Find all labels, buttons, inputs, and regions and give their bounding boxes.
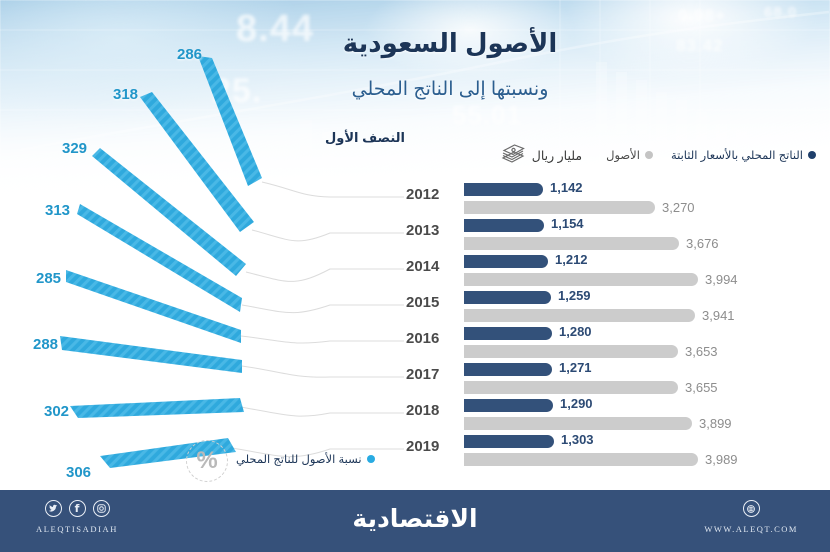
fan-wedge[interactable] [70, 398, 244, 418]
bar-row-year: 2016 [406, 330, 458, 347]
bar-value-gdp: 1,280 [559, 324, 592, 339]
bar-value-assets: 3,994 [705, 272, 738, 287]
fan-wedge[interactable] [140, 92, 254, 232]
bar-value-assets: 3,941 [702, 308, 735, 323]
legend-dot-icon [367, 455, 375, 463]
bar-assets[interactable] [464, 417, 692, 430]
bar-value-assets: 3,676 [686, 236, 719, 251]
fan-value-label: 302 [44, 403, 69, 420]
bar-row-year: 2019 [406, 438, 458, 455]
fan-value-label: 286 [177, 46, 202, 63]
table-row[interactable]: 20161,2803,653 [400, 326, 830, 362]
footer-bar: f ALEQTISADIAH الاقتصادية WWW.ALEQT.COM [0, 490, 830, 552]
fan-value-label: 329 [62, 140, 87, 157]
table-row[interactable]: 20151,2593,941 [400, 290, 830, 326]
bar-value-assets: 3,899 [699, 416, 732, 431]
fan-wedge-group [60, 56, 262, 468]
bar-value-gdp: 1,303 [561, 432, 594, 447]
fan-value-label: 306 [66, 464, 91, 481]
bar-row-year: 2012 [406, 186, 458, 203]
bar-assets[interactable] [464, 237, 679, 250]
ratio-fan-chart [0, 0, 420, 500]
footer-website-block: WWW.ALEQT.COM [704, 500, 798, 534]
fan-value-label: 288 [33, 336, 58, 353]
bar-gdp[interactable] [464, 327, 552, 340]
unit-label: مليار ريال [532, 148, 582, 163]
bar-assets[interactable] [464, 345, 678, 358]
bar-gdp[interactable] [464, 291, 551, 304]
fan-wedge[interactable] [60, 336, 242, 373]
bar-gdp[interactable] [464, 363, 552, 376]
bar-value-assets: 3,270 [662, 200, 695, 215]
table-row[interactable]: 20171,2713,655 [400, 362, 830, 398]
bar-value-gdp: 1,271 [559, 360, 592, 375]
bar-assets[interactable] [464, 201, 655, 214]
banknote-stack-icon [500, 144, 526, 166]
table-row[interactable]: 20191,3033,989 [400, 434, 830, 470]
bar-row-year: 2015 [406, 294, 458, 311]
fan-wedge[interactable] [66, 270, 241, 343]
bar-value-gdp: 1,290 [560, 396, 593, 411]
bar-row-year: 2014 [406, 258, 458, 275]
bar-value-assets: 3,989 [705, 452, 738, 467]
bar-gdp[interactable] [464, 219, 544, 232]
bar-row-year: 2013 [406, 222, 458, 239]
legend-label-gdp: الناتج المحلي بالأسعار الثابتة [671, 148, 803, 162]
bar-row-year: 2017 [406, 366, 458, 383]
legend-label-assets: الأصول [606, 148, 640, 162]
legend-item-gdp[interactable]: الناتج المحلي بالأسعار الثابتة [671, 148, 816, 162]
fan-value-label: 285 [36, 270, 61, 287]
legend-item-assets[interactable]: الأصول [606, 148, 653, 162]
legend-label-ratio: نسبة الأصول للناتج المحلي [236, 452, 362, 466]
bar-gdp[interactable] [464, 183, 543, 196]
fan-value-label: 318 [113, 86, 138, 103]
chart-legend: الناتج المحلي بالأسعار الثابتة الأصول مل… [500, 144, 816, 166]
infographic-stage: 8.44 .25 +0.98 55.01 83.42 68.0 الأصول ا… [0, 0, 830, 552]
table-row[interactable]: 20141,2123,994 [400, 254, 830, 290]
bar-assets[interactable] [464, 273, 698, 286]
unit-indicator: مليار ريال [500, 144, 582, 166]
fan-value-label: 313 [45, 202, 70, 219]
table-row[interactable]: 20131,1543,676 [400, 218, 830, 254]
bar-gdp[interactable] [464, 435, 554, 448]
bar-value-gdp: 1,154 [551, 216, 584, 231]
bar-gdp[interactable] [464, 399, 553, 412]
bar-value-gdp: 1,142 [550, 180, 583, 195]
bar-value-assets: 3,653 [685, 344, 718, 359]
percent-badge: % [186, 440, 228, 482]
footer-url: WWW.ALEQT.COM [704, 524, 798, 534]
legend-dot-icon [645, 151, 653, 159]
table-row[interactable]: 20181,2903,899 [400, 398, 830, 434]
bar-value-gdp: 1,259 [558, 288, 591, 303]
bar-row-year: 2018 [406, 402, 458, 419]
bar-assets[interactable] [464, 453, 698, 466]
bar-value-gdp: 1,212 [555, 252, 588, 267]
bar-chart: 20121,1423,27020131,1543,67620141,2123,9… [400, 182, 830, 472]
legend-item-ratio[interactable]: نسبة الأصول للناتج المحلي [236, 452, 375, 466]
bar-assets[interactable] [464, 309, 695, 322]
bar-gdp[interactable] [464, 255, 548, 268]
globe-icon[interactable] [743, 500, 760, 517]
table-row[interactable]: 20121,1423,270 [400, 182, 830, 218]
legend-dot-icon [808, 151, 816, 159]
bar-assets[interactable] [464, 381, 678, 394]
bar-value-assets: 3,655 [685, 380, 718, 395]
